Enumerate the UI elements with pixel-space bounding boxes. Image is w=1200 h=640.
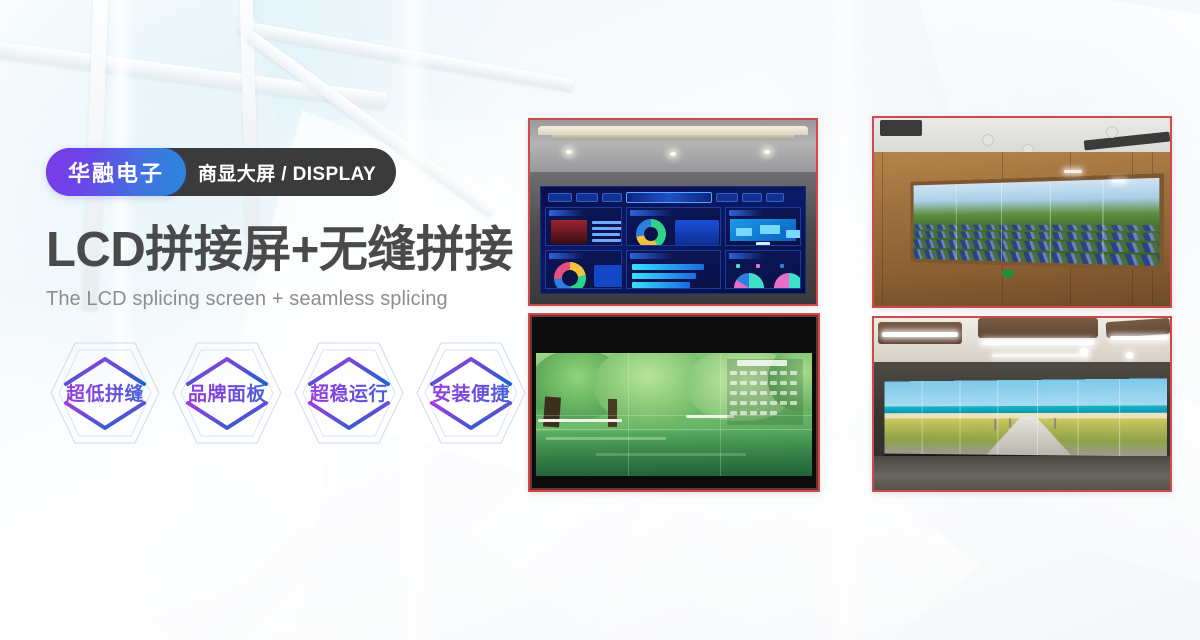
page-subtitle: The LCD splicing screen + seamless splic…: [46, 288, 526, 311]
promo-banner: 商显大屏 / DISPLAY 华融电子 LCD拼接屏+无缝拼接 The LCD …: [0, 0, 1200, 640]
feature-label: 安装便捷: [412, 379, 530, 406]
photo-beach-wall-scene: [874, 318, 1170, 490]
ceiling-beam-horizontal-1: [0, 38, 387, 109]
photo-pond-wall[interactable]: [528, 313, 820, 492]
feature-item-2: 品牌面板: [168, 337, 286, 449]
feature-label: 超稳运行: [290, 379, 408, 406]
feature-item-3: 超稳运行: [290, 337, 408, 449]
photo-dashboard-wall-scene: [530, 120, 816, 304]
feature-label: 超低拼缝: [46, 379, 164, 406]
background-facet-1: [40, 430, 340, 640]
photo-dashboard-wall[interactable]: [528, 118, 818, 306]
feature-list: 超低拼缝 品牌面板: [46, 337, 526, 449]
page-title: LCD拼接屏+无缝拼接: [46, 224, 526, 277]
ceiling-beam-horizontal-2: [237, 20, 574, 92]
photo-solar-wall[interactable]: [872, 116, 1172, 308]
photo-pond-wall-scene: [530, 315, 818, 490]
photo-gallery: [528, 118, 1172, 492]
headline-block: 商显大屏 / DISPLAY 华融电子 LCD拼接屏+无缝拼接 The LCD …: [46, 148, 526, 449]
feature-item-4: 安装便捷: [412, 337, 530, 449]
photo-beach-wall[interactable]: [872, 316, 1172, 492]
feature-label: 品牌面板: [168, 379, 286, 406]
badge-row: 商显大屏 / DISPLAY 华融电子: [46, 148, 526, 196]
brand-badge: 华融电子: [46, 148, 186, 196]
photo-solar-wall-scene: [874, 118, 1170, 306]
feature-item-1: 超低拼缝: [46, 337, 164, 449]
